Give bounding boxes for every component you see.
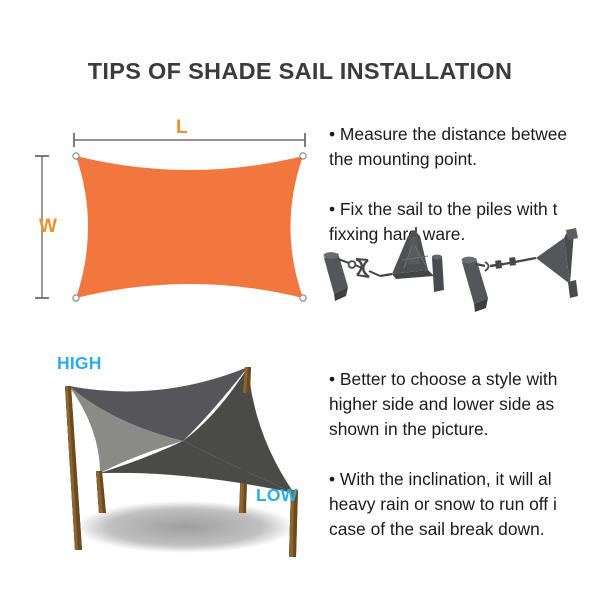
- turnbuckle-hardware-icon: [338, 259, 392, 277]
- high-side-label: HIGH: [57, 355, 102, 373]
- tip-inclination-runoff: • With the inclination, it will al heavy…: [329, 467, 600, 542]
- tip-line: the mounting point.: [329, 147, 600, 172]
- infographic-page: TIPS OF SHADE SAIL INSTALLATION L W •: [0, 0, 600, 600]
- sail-corner-fitting-icon: [392, 230, 444, 292]
- tip-choose-style: • Better to choose a style with higher s…: [329, 367, 600, 442]
- hardware-illustration-post-turnbuckle-fitting: [316, 224, 466, 316]
- tip-measure-distance: • Measure the distance betwee the mounti…: [329, 122, 600, 172]
- tip-line: • Fix the sail to the piles with t: [329, 197, 600, 222]
- length-dimension-line: [74, 133, 305, 147]
- bottom-tips-text: • Better to choose a style with higher s…: [329, 367, 600, 542]
- mounting-post-icon: [324, 252, 348, 301]
- tip-line: • Better to choose a style with: [329, 367, 600, 392]
- tip-line: heavy rain or snow to run off i: [329, 492, 600, 517]
- tip-line: • Measure the distance betwee: [329, 122, 600, 147]
- triangular-sail-corner-icon: [536, 228, 578, 298]
- page-title: TIPS OF SHADE SAIL INSTALLATION: [0, 58, 600, 85]
- width-label: W: [39, 217, 57, 236]
- hardware-illustration-post-sail-corner: [452, 222, 600, 318]
- turnbuckle-hardware-icon: [476, 258, 536, 271]
- ground-shadow: [75, 501, 295, 553]
- tip-line: shown in the picture.: [329, 417, 600, 442]
- rectangular-sail-diagram: [20, 110, 320, 320]
- length-label: L: [176, 118, 188, 137]
- inclined-shade-sail-diagram: [40, 345, 330, 565]
- tip-line: higher side and lower side as: [329, 392, 600, 417]
- tip-line: • With the inclination, it will al: [329, 467, 600, 492]
- orange-shade-sail: [76, 156, 303, 298]
- low-side-label: LOW: [256, 487, 297, 505]
- tip-line: case of the sail break down.: [329, 517, 600, 542]
